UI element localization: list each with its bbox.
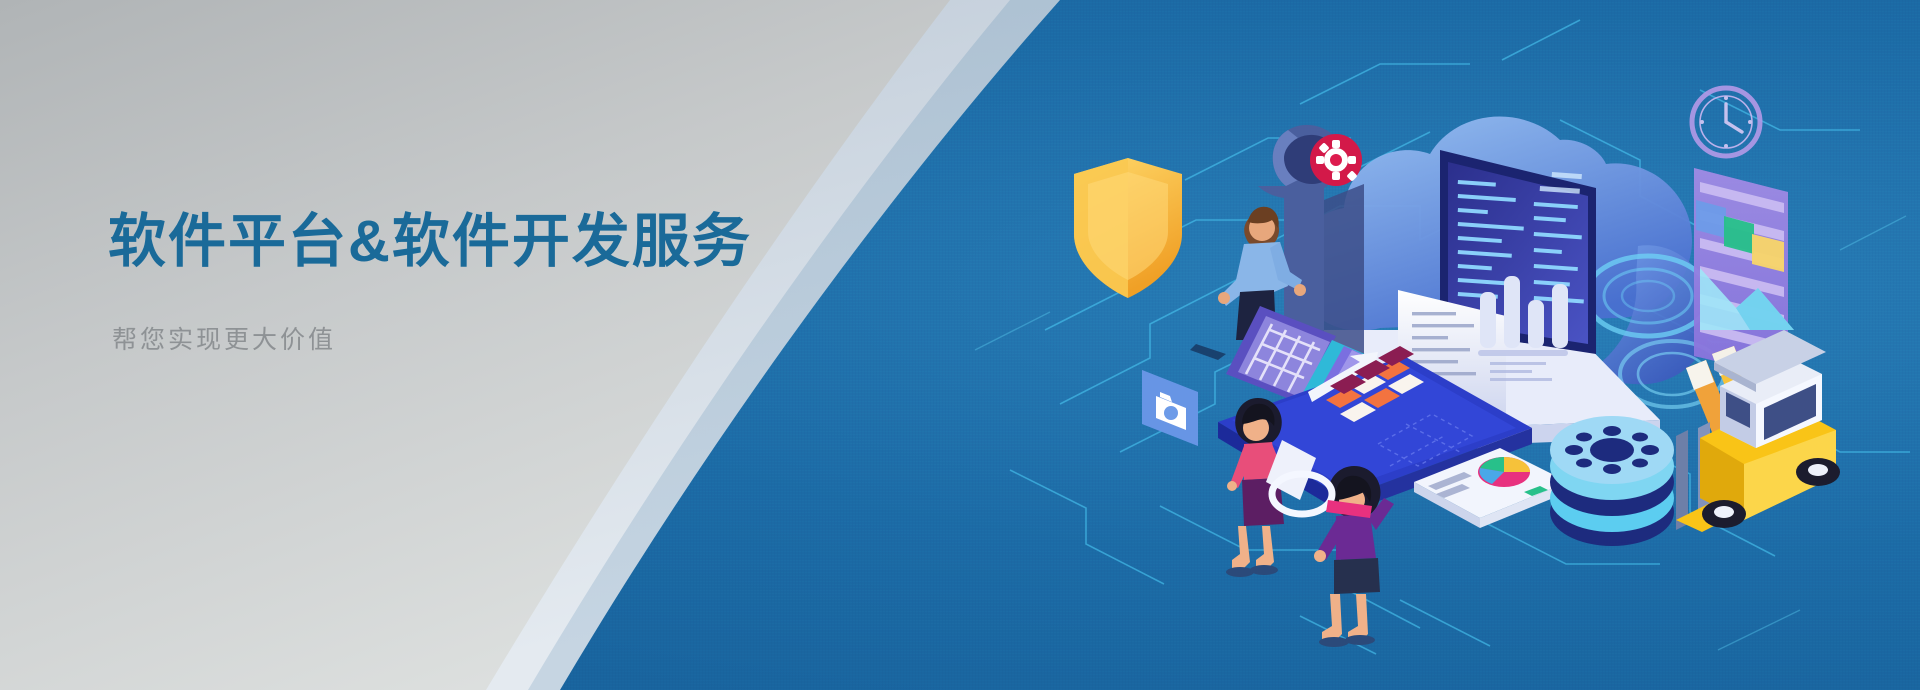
- banner-text-block: 软件平台&软件开发服务 帮您实现更大价值: [108, 208, 828, 356]
- page-subtitle: 帮您实现更大价值: [112, 320, 828, 356]
- page-title: 软件平台&软件开发服务: [108, 208, 828, 276]
- hero-banner: 软件平台&软件开发服务 帮您实现更大价值: [0, 0, 1920, 690]
